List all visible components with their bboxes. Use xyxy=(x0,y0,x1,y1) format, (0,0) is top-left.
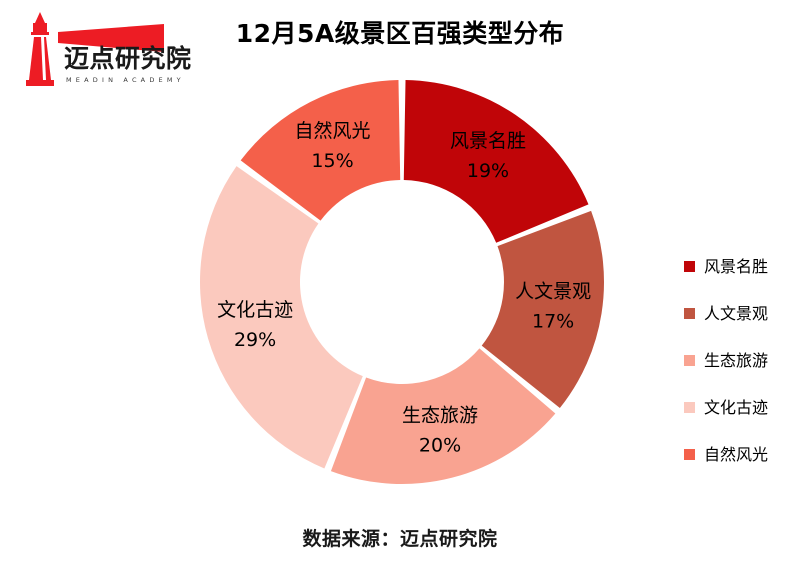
legend-color-swatch xyxy=(684,449,695,460)
slice-value-label: 17% xyxy=(532,310,574,332)
legend-item[interactable]: 人文景观 xyxy=(684,290,796,337)
legend-item-label: 风景名胜 xyxy=(704,259,768,275)
legend-item[interactable]: 风景名胜 xyxy=(684,243,796,290)
slice-value-label: 29% xyxy=(234,329,276,351)
legend-item[interactable]: 生态旅游 xyxy=(684,337,796,384)
slice-category-label: 生态旅游 xyxy=(402,405,478,427)
donut-chart-svg: 风景名胜19%人文景观17%生态旅游20%文化古迹29%自然风光15% xyxy=(0,0,800,572)
legend-item[interactable]: 自然风光 xyxy=(684,431,796,478)
legend-item-label: 人文景观 xyxy=(704,306,768,322)
donut-chart: 风景名胜19%人文景观17%生态旅游20%文化古迹29%自然风光15% xyxy=(0,0,800,572)
legend-color-swatch xyxy=(684,308,695,319)
legend-item-label: 文化古迹 xyxy=(704,400,768,416)
chart-legend: 风景名胜人文景观生态旅游文化古迹自然风光 xyxy=(684,243,796,478)
legend-color-swatch xyxy=(684,355,695,366)
legend-color-swatch xyxy=(684,261,695,272)
slice-value-label: 19% xyxy=(467,160,509,182)
legend-item-label: 生态旅游 xyxy=(704,353,768,369)
legend-item[interactable]: 文化古迹 xyxy=(684,384,796,431)
legend-item-label: 自然风光 xyxy=(704,447,768,463)
slice-category-label: 自然风光 xyxy=(295,120,371,142)
slice-value-label: 20% xyxy=(419,435,461,457)
slice-category-label: 人文景观 xyxy=(515,280,591,302)
legend-color-swatch xyxy=(684,402,695,413)
slice-value-label: 15% xyxy=(311,150,353,172)
data-source-note: 数据来源：迈点研究院 xyxy=(0,524,800,551)
slice-category-label: 文化古迹 xyxy=(217,299,293,321)
slice-category-label: 风景名胜 xyxy=(450,130,526,152)
